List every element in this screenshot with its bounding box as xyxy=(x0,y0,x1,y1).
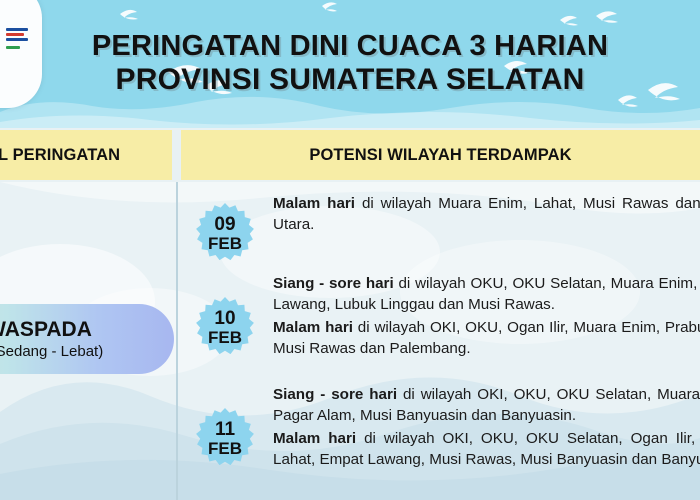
bmkg-logo-icon xyxy=(0,0,42,108)
date-badge-month: FEB xyxy=(208,329,242,347)
forecast-paragraph: Malam hari di wilayah Muara Enim, Lahat,… xyxy=(273,194,700,236)
row-text-group: Malam hari di wilayah Muara Enim, Lahat,… xyxy=(273,194,700,238)
column-header-warning-level: L PERINGATAN xyxy=(0,130,172,180)
date-badge: 11 FEB xyxy=(193,407,257,471)
forecast-paragraph: Siang - sore hari di wilayah OKI, OKU, O… xyxy=(273,385,700,427)
row-text-group: Siang - sore hari di wilayah OKI, OKU, O… xyxy=(273,385,700,473)
column-header-affected-areas-label: POTENSI WILAYAH TERDAMPAK xyxy=(309,146,571,165)
date-badge: 10 FEB xyxy=(193,296,257,360)
column-divider xyxy=(176,182,178,500)
forecast-time-lead: Siang - sore hari xyxy=(273,386,397,403)
forecast-time-lead: Malam hari xyxy=(273,319,353,336)
forecast-paragraph: Malam hari di wilayah OKI, OKU, OKU Sela… xyxy=(273,429,700,471)
warning-level-sublabel: an Sedang - Lebat) xyxy=(0,343,103,360)
logo-mark xyxy=(6,28,28,51)
column-header-affected-areas: POTENSI WILAYAH TERDAMPAK xyxy=(181,130,700,180)
table-header-row: L PERINGATAN POTENSI WILAYAH TERDAMPAK xyxy=(0,128,700,182)
warning-level-badge: WASPADA an Sedang - Lebat) xyxy=(0,304,174,374)
warning-level-label: WASPADA xyxy=(0,318,92,342)
forecast-paragraph: Malam hari di wilayah OKI, OKU, Ogan Ili… xyxy=(273,318,700,360)
forecast-time-lead: Siang - sore hari xyxy=(273,275,394,292)
date-badge: 09 FEB xyxy=(193,202,257,266)
forecast-time-lead: Malam hari xyxy=(273,430,356,447)
date-badge-day: 10 xyxy=(214,309,235,329)
row-text-group: Siang - sore hari di wilayah OKU, OKU Se… xyxy=(273,274,700,362)
forecast-paragraph: Siang - sore hari di wilayah OKU, OKU Se… xyxy=(273,274,700,316)
forecast-time-lead: Malam hari xyxy=(273,195,355,212)
page-title-line2: PROVINSI SUMATERA SELATAN xyxy=(116,64,585,96)
date-badge-day: 09 xyxy=(214,215,235,235)
column-header-warning-level-label: L PERINGATAN xyxy=(0,146,120,165)
header-title-group: PERINGATAN DINI CUACA 3 HARIAN PROVINSI … xyxy=(0,0,700,128)
date-badge-month: FEB xyxy=(208,235,242,253)
date-badge-day: 11 xyxy=(215,420,235,440)
page-title-line1: PERINGATAN DINI CUACA 3 HARIAN xyxy=(92,31,608,62)
header-banner: PERINGATAN DINI CUACA 3 HARIAN PROVINSI … xyxy=(0,0,700,128)
date-badge-month: FEB xyxy=(208,440,242,458)
